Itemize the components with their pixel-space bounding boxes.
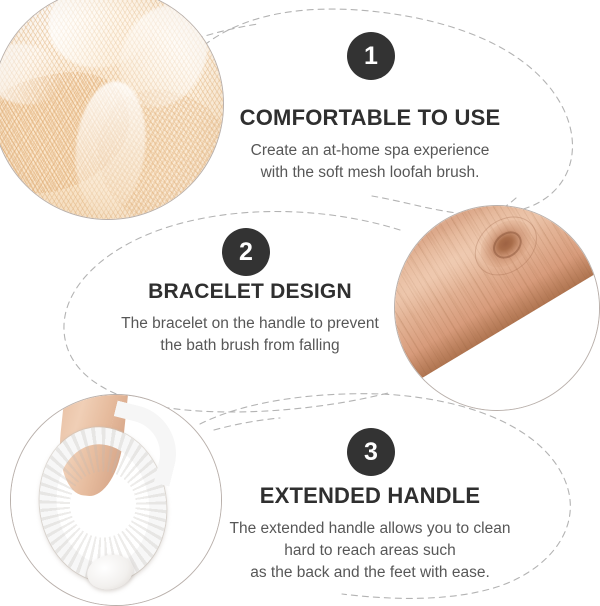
feature-text-block-2: BRACELET DESIGN The bracelet on the hand… (85, 280, 415, 357)
feature-number-badge-3: 3 (347, 428, 395, 476)
feature-title-2: BRACELET DESIGN (85, 280, 415, 304)
feature-description-3-line-1: The extended handle allows you to clean (205, 518, 535, 540)
feature-title-3: EXTENDED HANDLE (205, 483, 535, 509)
rope-bracelet-photo (10, 394, 222, 606)
feature-number-badge-2: 2 (222, 228, 270, 276)
feature-description-1: Create an at-home spa experience with th… (205, 140, 535, 184)
connector-line-4 (214, 418, 280, 430)
feature-description-3-line-3: as the back and the feet with ease. (205, 562, 535, 584)
feature-description-2: The bracelet on the handle to prevent th… (85, 313, 415, 357)
product-feature-infographic: 1 2 3 COMFORTABLE TO USE Create an at-ho… (0, 0, 600, 600)
feature-text-block-3: EXTENDED HANDLE The extended handle allo… (205, 483, 535, 584)
feature-description-2-line-1: The bracelet on the handle to prevent (85, 313, 415, 335)
badge-number-2: 2 (239, 240, 253, 265)
feature-description-1-line-1: Create an at-home spa experience (205, 140, 535, 162)
feature-description-3: The extended handle allows you to clean … (205, 518, 535, 584)
handle-hole (86, 394, 99, 396)
wooden-handle-photo (394, 205, 600, 411)
feature-text-block-1: COMFORTABLE TO USE Create an at-home spa… (205, 105, 535, 184)
feature-description-1-line-2: with the soft mesh loofah brush. (205, 162, 535, 184)
mesh-vignette (0, 0, 223, 219)
feature-description-3-line-2: hard to reach areas such (205, 540, 535, 562)
feature-title-1: COMFORTABLE TO USE (205, 105, 535, 131)
badge-number-1: 1 (364, 44, 378, 69)
badge-number-3: 3 (364, 440, 378, 465)
feature-description-2-line-2: the bath brush from falling (85, 335, 415, 357)
feature-number-badge-1: 1 (347, 32, 395, 80)
mesh-loofah-photo (0, 0, 224, 220)
